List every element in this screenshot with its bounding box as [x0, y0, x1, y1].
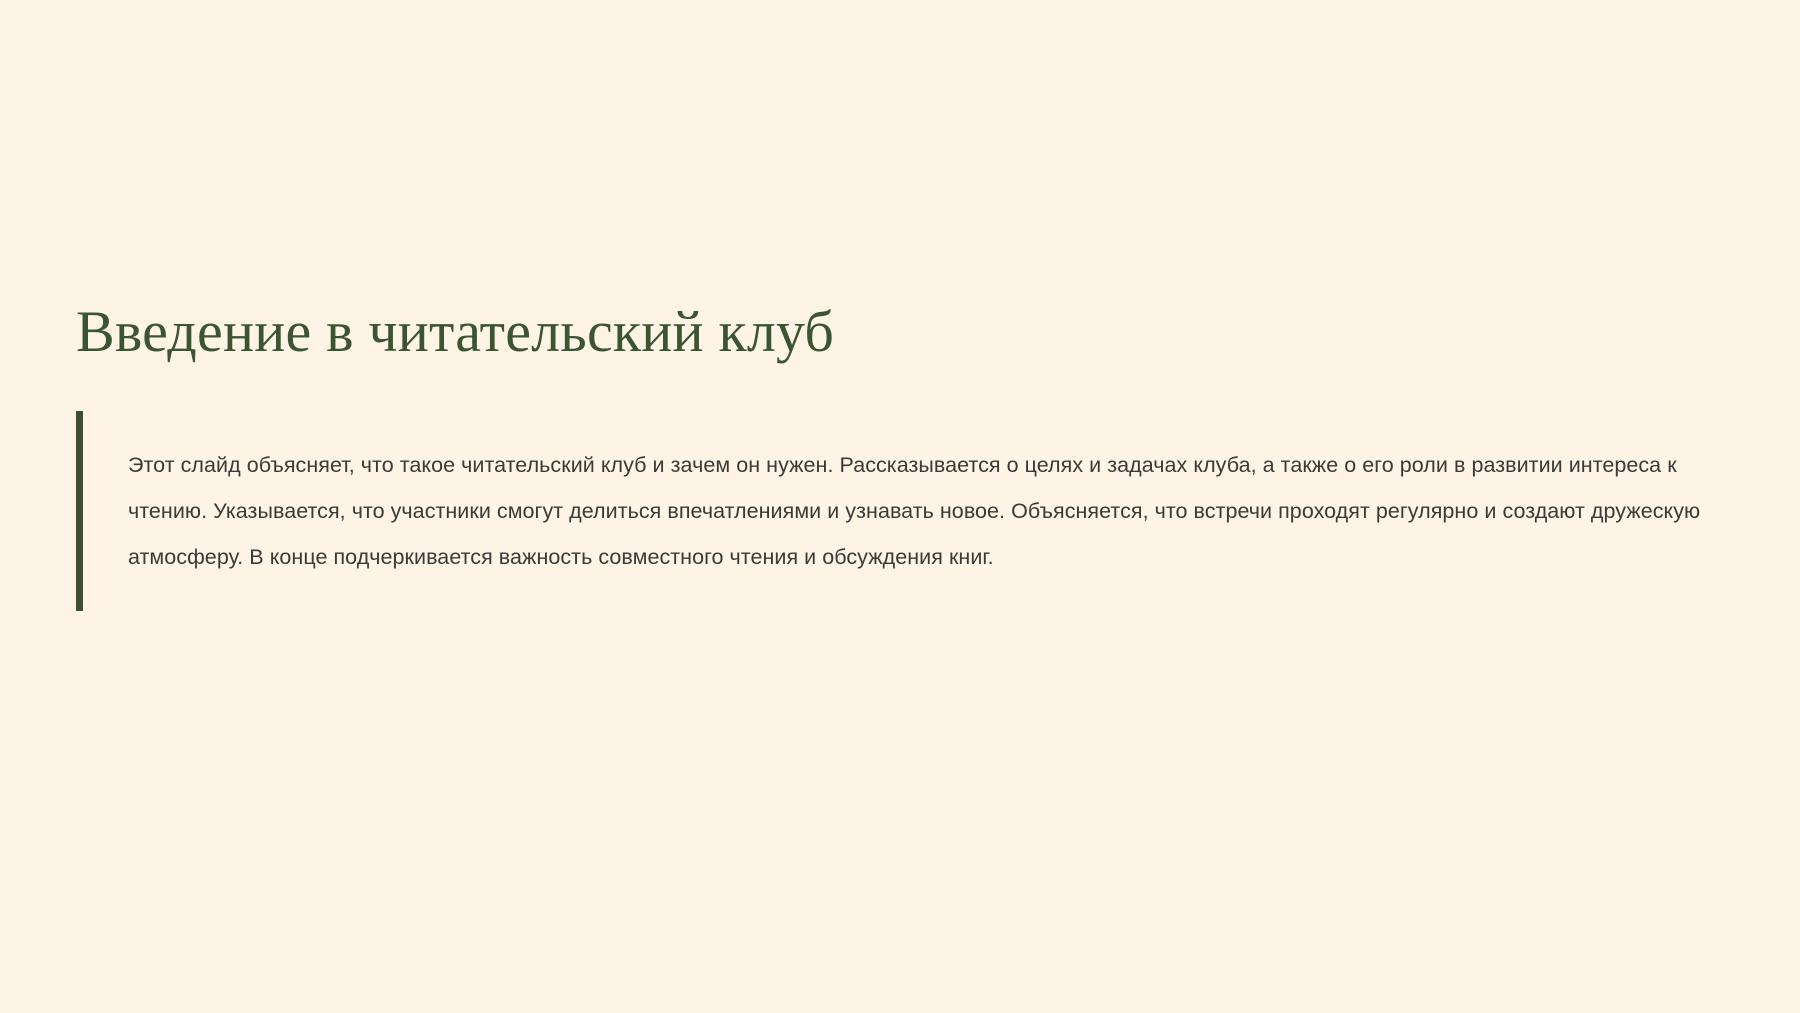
accent-bar: [76, 411, 83, 611]
slide-content: Введение в читательский клуб Этот слайд …: [76, 300, 1756, 611]
page-title: Введение в читательский клуб: [76, 300, 1756, 365]
body-paragraph: Этот слайд объясняет, что такое читатель…: [128, 442, 1736, 580]
slide-canvas: Введение в читательский клуб Этот слайд …: [0, 0, 1800, 1013]
body-callout-block: Этот слайд объясняет, что такое читатель…: [76, 411, 1756, 611]
